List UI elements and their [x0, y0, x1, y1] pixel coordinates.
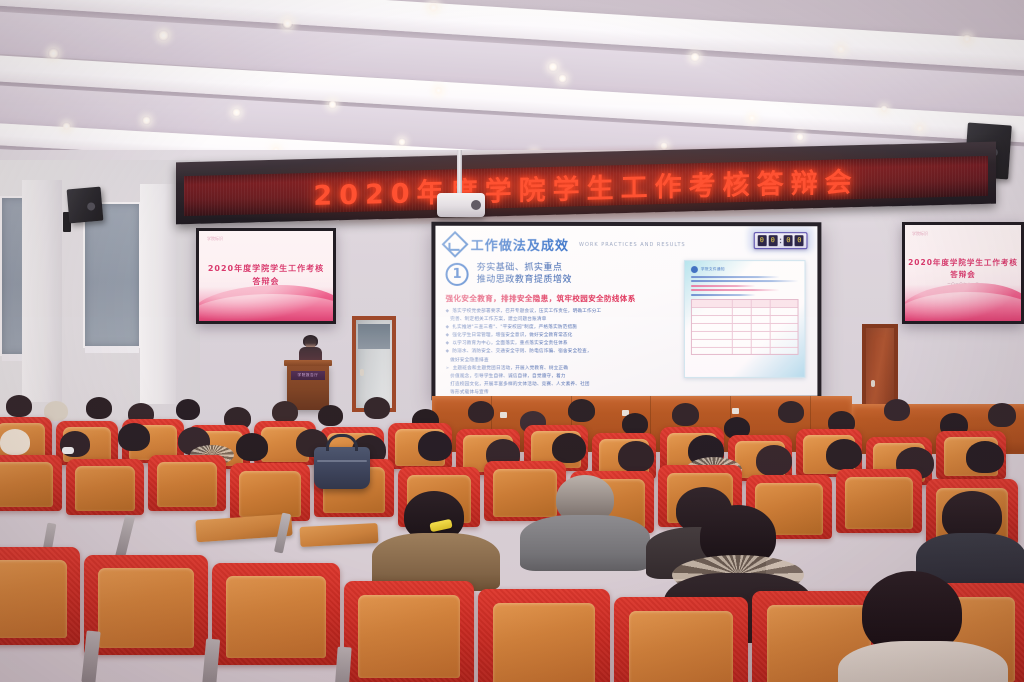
document-header: 学院文件通知: [691, 266, 799, 273]
side-screen-right-content: 学院标识 2020年度学院学生工作考核 答辩会 二〇二〇年十二月: [905, 225, 1021, 321]
handbag-handle: [326, 434, 358, 451]
recessed-spotlight: [836, 44, 846, 54]
projector-mount-pole: [457, 150, 462, 196]
main-projection-screen: 工作做法及成效 WORK PRACTICES AND RESULTS 1 夯实基…: [431, 222, 821, 401]
document-line: [691, 285, 756, 287]
recessed-spotlight: [916, 124, 924, 132]
audience-head: [468, 401, 494, 423]
side-screen-right: 学院标识 2020年度学院学生工作考核 答辩会 二〇二〇年十二月: [902, 222, 1024, 324]
door-knob-icon[interactable]: [360, 369, 364, 376]
recessed-spotlight: [748, 114, 756, 122]
slide-body-line: ◆落实学校党委部署要求，召开专题会议，压实工作责任，明确工作分工: [446, 309, 646, 316]
audience-head: [364, 397, 390, 419]
recessed-spotlight: [690, 52, 700, 62]
audience-seating-area: [0, 395, 1024, 682]
audience-head: [884, 399, 910, 421]
seat-armrail: [334, 647, 351, 682]
audience-head: [756, 445, 792, 476]
wall-pillar: [22, 180, 62, 402]
recessed-spotlight: [880, 105, 888, 113]
recessed-spotlight: [434, 86, 443, 95]
table-rule: [692, 338, 798, 339]
slide-body-line: 价值观念，引导学生自律、诚信自律，自觉遵守，着力: [446, 374, 646, 381]
recessed-spotlight: [232, 108, 241, 117]
recessed-spotlight: [158, 30, 169, 41]
timer-digit: 0: [757, 235, 766, 246]
recessed-spotlight: [48, 48, 59, 59]
countdown-timer[interactable]: 0 0 : 0 0: [754, 232, 808, 249]
wall-speaker-left: [67, 187, 104, 224]
table-rule: [692, 307, 798, 308]
bullet-icon: ◆: [446, 333, 450, 340]
audience-head: [622, 413, 648, 435]
audience-head: [6, 395, 32, 417]
audience-head: [966, 441, 1004, 473]
recessed-spotlight: [398, 138, 406, 146]
side-screen-corner-label: 学院标识: [207, 236, 223, 242]
recessed-spotlight: [548, 62, 558, 72]
handbag-zipper: [317, 460, 366, 462]
audience-head: [0, 429, 30, 455]
auditorium-seat[interactable]: [148, 455, 226, 511]
audience-head: [672, 403, 699, 426]
diamond-logo-icon: [442, 231, 469, 258]
bullet-icon: [446, 358, 448, 365]
handbag-on-seat[interactable]: [314, 447, 370, 489]
lectern-top: [284, 360, 332, 366]
lectern-plaque-text: 学院报告厅: [298, 373, 319, 378]
audience-head: [236, 433, 268, 461]
document-line: [691, 276, 779, 278]
auditorium-seat[interactable]: [84, 555, 208, 655]
auditorium-seat[interactable]: [478, 589, 610, 682]
slide-body-line: ◆防溺水、消防安全、交通安全守则、防电信诈骗、宿舍安全检查，: [446, 349, 646, 356]
seat-armrail: [115, 514, 135, 559]
timer-digit: 0: [768, 235, 777, 246]
seal-icon: [691, 266, 698, 273]
face-mask: [62, 447, 74, 454]
recessed-spotlight: [428, 2, 439, 13]
slide-point-lines: 夯实基础、抓实重点 推动思政教育提质增效: [477, 262, 572, 286]
auditorium-seat[interactable]: [0, 547, 80, 645]
audience-head: [988, 403, 1016, 427]
audience-head: [318, 405, 343, 426]
document-line: [691, 289, 779, 291]
audience-head: [778, 401, 804, 423]
audience-head: [568, 399, 595, 422]
speaker-cone-icon: [87, 202, 96, 211]
auditorium-seat[interactable]: [484, 461, 566, 521]
audience-head: [272, 401, 298, 423]
bullet-icon: ◆: [446, 341, 450, 348]
audience-head: [826, 439, 862, 470]
door-window: [358, 324, 390, 349]
bullet-icon: [446, 382, 448, 389]
side-screen-left: 学院标识 2020年度学院学生工作考核 答辩会 二〇二〇年十二月: [196, 228, 336, 324]
slide-body-line: ◆强化学生日常管理，增强安全意识，做好安全教育常态化: [446, 333, 646, 340]
decorative-wave-highlight: [199, 294, 333, 321]
slide-body-list: ◆落实学校党委部署要求，召开专题会议，压实工作责任，明确工作分工 完善、制定相关…: [446, 309, 646, 396]
slide-body-line: 打造校园文化，开展丰富多样的文体活动、竞赛、人文素养、社团: [446, 382, 646, 389]
timer-digit: 0: [784, 235, 793, 246]
seat-armrail: [202, 638, 220, 682]
timer-colon-icon: :: [779, 236, 782, 245]
side-screen-left-content: 学院标识 2020年度学院学生工作考核 答辩会 二〇二〇年十二月: [199, 231, 333, 321]
recessed-spotlight: [62, 122, 71, 131]
slide-body-line: ◆以学习教育为中心，全面落实，重点落实安全责任体系: [446, 341, 646, 348]
auditorium-seat[interactable]: [66, 459, 144, 515]
slide-point-line: 夯实基础、抓实重点: [477, 262, 572, 274]
decorative-wave-highlight: [905, 292, 1021, 321]
lectern-plaque: 学院报告厅: [291, 371, 325, 380]
recessed-spotlight: [962, 34, 972, 44]
slide-title-subtitle: WORK PRACTICES AND RESULTS: [579, 241, 686, 247]
auditorium-seat[interactable]: [836, 469, 922, 533]
document-table: [691, 299, 799, 355]
table-header-row: [692, 300, 798, 307]
table-rule: [692, 330, 798, 331]
auditorium-seat[interactable]: [230, 463, 310, 521]
side-screen-title-line1: 2020年度学院学生工作考核: [905, 257, 1021, 268]
bullet-icon: [446, 374, 448, 381]
bullet-icon: ◆: [446, 325, 450, 332]
audience-head: [552, 433, 586, 463]
wall-pillar: [140, 184, 176, 404]
bullet-icon: ➢: [446, 366, 450, 373]
table-rule: [692, 346, 798, 347]
document-title: 学院文件通知: [701, 267, 725, 272]
ceiling-projector: [437, 193, 485, 217]
slide-body-line: 完善、制定相关工作方案，建立问题台账清单: [446, 317, 646, 324]
slide-point-line: 推动思政教育提质增效: [477, 274, 572, 286]
side-screen-corner-label: 学院标识: [912, 231, 928, 237]
slide-body-line: 做好安全隐患排查: [446, 358, 646, 365]
document-line: [691, 280, 799, 282]
window-blind: [83, 202, 141, 348]
recessed-spotlight: [142, 116, 151, 125]
slide-document-thumbnail: 学院文件通知: [684, 260, 806, 378]
bullet-icon: [446, 317, 448, 324]
auditorium-seat[interactable]: [614, 597, 748, 682]
recessed-spotlight: [558, 74, 567, 83]
slide-body-line: ◆扎实推进"三查三看"、"平安校园"制度，严格落实防范措施: [446, 325, 646, 332]
audience-head: [118, 423, 150, 451]
slide-point-number: 1: [446, 262, 469, 285]
recessed-spotlight: [282, 18, 293, 29]
audience-shoulders: [838, 641, 1008, 682]
table-rule: [692, 322, 798, 323]
recessed-spotlight: [660, 142, 668, 150]
timer-digit: 0: [795, 235, 804, 246]
document-line: [691, 294, 756, 296]
audience-head: [418, 431, 452, 461]
bullet-icon: ◆: [446, 350, 450, 357]
projected-slide: 工作做法及成效 WORK PRACTICES AND RESULTS 1 夯实基…: [435, 226, 817, 397]
recessed-spotlight: [328, 100, 337, 109]
recessed-spotlight: [796, 133, 804, 141]
door-knob-icon[interactable]: [871, 380, 875, 387]
auditorium-photo: 2020年度学院学生工作考核答辩会 学院标识 2020年度学院学生工作考核 答辩…: [0, 0, 1024, 682]
side-screen-title-line1: 2020年度学院学生工作考核: [199, 263, 333, 274]
audience-head: [176, 399, 200, 420]
audience-head: [86, 397, 112, 419]
auditorium-seat[interactable]: [212, 563, 340, 665]
auditorium-seat[interactable]: [344, 581, 474, 682]
led-banner-text: 2020年度学院学生工作考核答辩会: [313, 160, 858, 213]
audience-head: [618, 441, 654, 472]
side-screen-title-line2: 答辩会: [905, 269, 1021, 280]
bullet-icon: ◆: [446, 309, 450, 316]
seat-tray-table[interactable]: [300, 523, 379, 547]
slide-title: 工作做法及成效: [471, 235, 569, 254]
table-rule: [692, 314, 798, 315]
audience-shoulders: [520, 515, 650, 571]
projector-lens-icon: [471, 200, 481, 210]
slide-body-line: ➢主题班会和主题党团日活动，开展入党教育、树立正确: [446, 366, 646, 373]
auditorium-seat[interactable]: [0, 455, 62, 511]
